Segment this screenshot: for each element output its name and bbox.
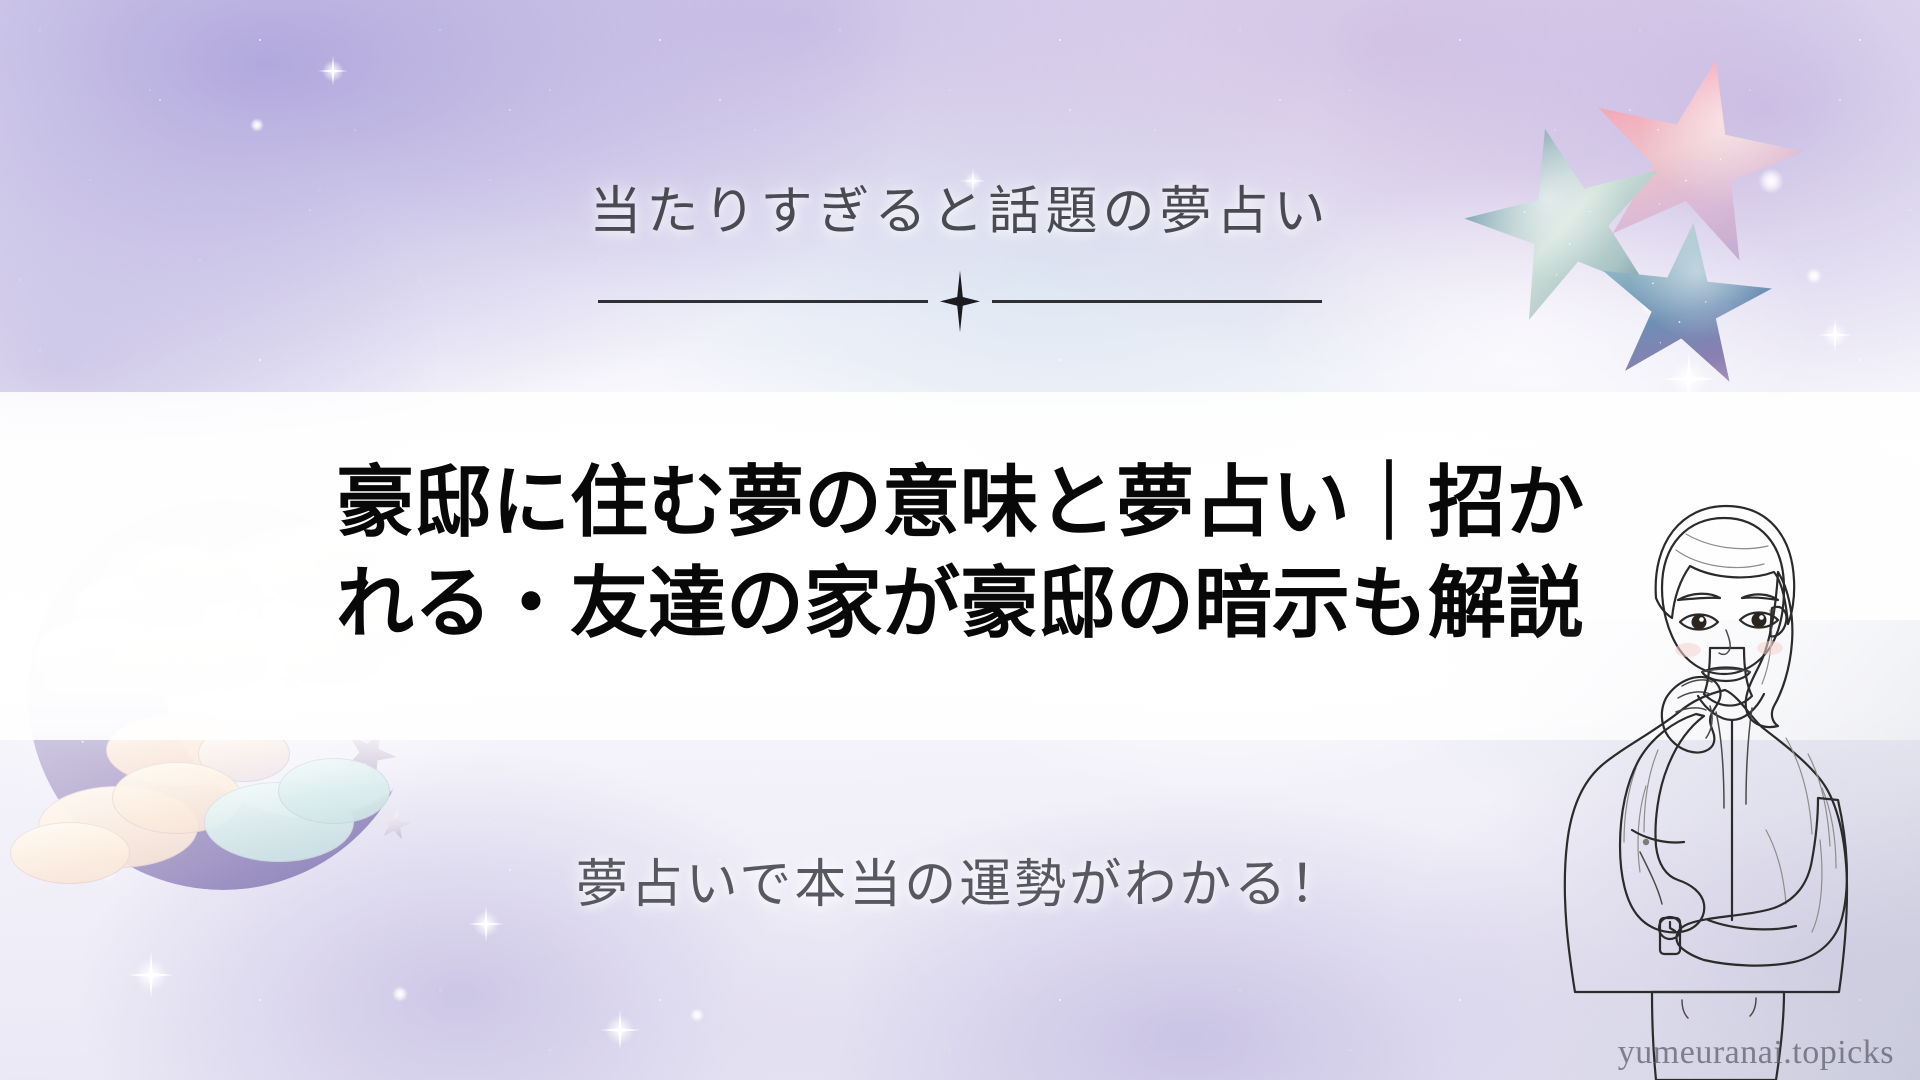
tagline-block: 当たりすぎると話題の夢占い [0, 182, 1920, 332]
tagline-text: 当たりすぎると話題の夢占い [0, 182, 1920, 244]
light-flare-8 [690, 1008, 704, 1022]
woman-figure-svg [1520, 500, 1920, 1080]
site-watermark: yumeuranai.topicks [1618, 1034, 1894, 1072]
tagline-divider [0, 270, 1920, 332]
moon-cloud-16 [278, 758, 390, 824]
light-flare-7 [392, 986, 408, 1002]
moon-star-icon-6 [378, 808, 413, 842]
divider-rule-left [598, 300, 928, 303]
illustrated-woman-hand-on-chin [1520, 500, 1920, 1080]
banner-canvas: 当たりすぎると話題の夢占い 豪邸に住む夢の意味と夢占い｜招か れる・友達の家が豪… [0, 0, 1920, 1080]
divider-rule-right [992, 300, 1322, 303]
four-point-sparkle-icon [940, 270, 980, 332]
light-flare-5 [250, 118, 264, 132]
